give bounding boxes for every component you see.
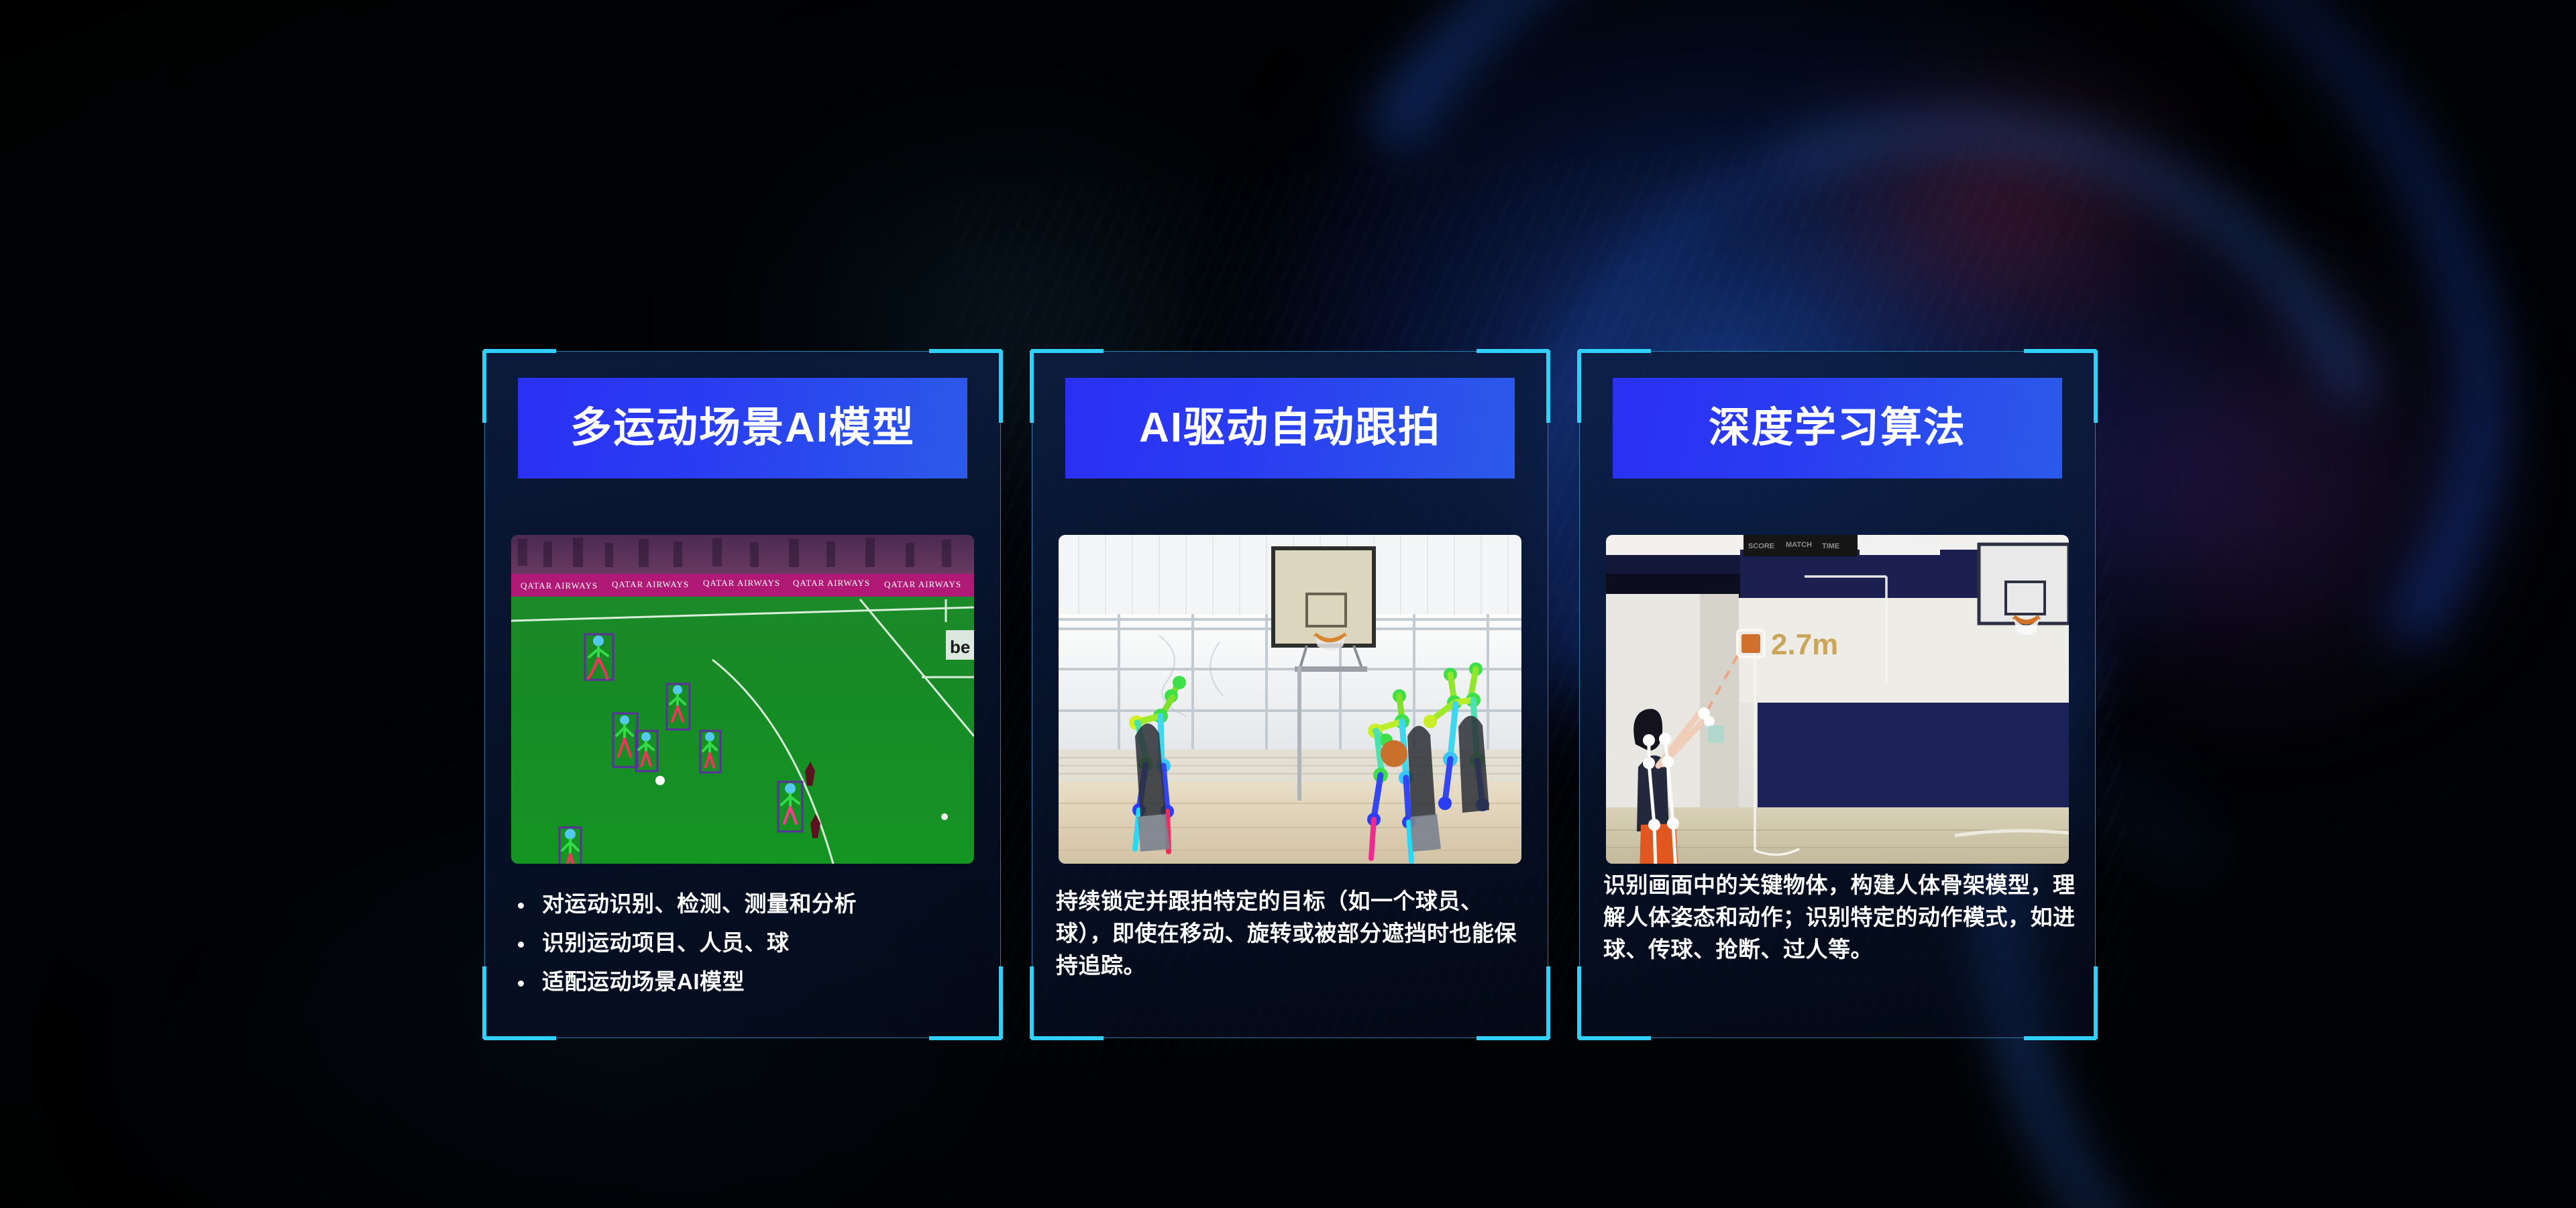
- card-title: 多运动场景AI模型: [570, 407, 915, 449]
- corner-bracket-bottom-right-v: [1546, 966, 1550, 1039]
- svg-text:TIME: TIME: [1822, 542, 1839, 550]
- svg-text:be: be: [950, 637, 970, 657]
- corner-bracket-top-left-v: [1030, 350, 1034, 423]
- corner-bracket-top-right-v: [999, 350, 1003, 423]
- shot-height-measurement-illustration: SCOREMATCHTIME: [1606, 535, 2069, 864]
- feature-description: 识别画面中的关键物体，构建人体骨架模型，理解人体姿态和动作；识别特定的动作模式，…: [1603, 869, 2081, 966]
- basketball-pose-illustration: [1059, 535, 1521, 864]
- card-body-text: 对运动识别、检测、测量和分析 识别运动项目、人员、球 适配运动场景AI模型: [513, 888, 981, 1005]
- card-title-banner: 深度学习算法: [1613, 378, 2062, 479]
- feature-bullet-list: 对运动识别、检测、测量和分析 识别运动项目、人员、球 适配运动场景AI模型: [513, 888, 981, 998]
- list-item: 识别运动项目、人员、球: [513, 927, 981, 959]
- svg-text:QATAR AIRWAYS: QATAR AIRWAYS: [521, 581, 598, 591]
- corner-bracket-top-left-v: [1577, 350, 1581, 423]
- card-media-basketball-pose[interactable]: [1059, 535, 1521, 864]
- card-media-shot-measurement[interactable]: SCOREMATCHTIME: [1606, 535, 2069, 864]
- svg-text:QATAR AIRWAYS: QATAR AIRWAYS: [703, 578, 780, 588]
- card-title: AI驱动自动跟拍: [1139, 407, 1441, 449]
- svg-text:MATCH: MATCH: [1786, 541, 1812, 549]
- svg-text:SCORE: SCORE: [1748, 542, 1774, 550]
- card-body-text: 持续锁定并跟拍特定的目标（如一个球员、球），即使在移动、旋转或被部分遮挡时也能保…: [1056, 885, 1531, 982]
- list-item: 适配运动场景AI模型: [513, 966, 981, 998]
- corner-bracket-bottom-left-v: [1577, 966, 1581, 1039]
- feature-description: 持续锁定并跟拍特定的目标（如一个球员、球），即使在移动、旋转或被部分遮挡时也能保…: [1056, 885, 1531, 982]
- svg-text:2.7m: 2.7m: [1771, 628, 1838, 661]
- corner-bracket-top-right-v: [1546, 350, 1550, 423]
- corner-bracket-bottom-left-v: [1030, 966, 1034, 1039]
- card-title-banner: AI驱动自动跟拍: [1065, 378, 1515, 479]
- soccer-detection-illustration: QATAR AIRWAYS QATAR AIRWAYS QATAR AIRWAY…: [511, 535, 974, 864]
- feature-card-multi-sport-ai-model[interactable]: 多运动场景AI模型: [484, 351, 1001, 1038]
- feature-card-ai-auto-tracking[interactable]: AI驱动自动跟拍: [1032, 351, 1548, 1038]
- card-media-soccer-detection[interactable]: QATAR AIRWAYS QATAR AIRWAYS QATAR AIRWAY…: [511, 535, 974, 864]
- card-title-banner: 多运动场景AI模型: [518, 378, 967, 479]
- list-item: 对运动识别、检测、测量和分析: [513, 888, 981, 920]
- svg-text:QATAR AIRWAYS: QATAR AIRWAYS: [884, 579, 961, 589]
- card-body-text: 识别画面中的关键物体，构建人体骨架模型，理解人体姿态和动作；识别特定的动作模式，…: [1603, 869, 2081, 966]
- svg-text:QATAR AIRWAYS: QATAR AIRWAYS: [793, 578, 870, 588]
- svg-text:QATAR AIRWAYS: QATAR AIRWAYS: [612, 579, 689, 589]
- feature-card-deep-learning-algorithm[interactable]: 深度学习算法 SCOREMATCHTIME: [1579, 351, 2096, 1038]
- corner-bracket-bottom-right-v: [999, 966, 1003, 1039]
- feature-card-row: 多运动场景AI模型: [484, 351, 2096, 1038]
- card-title: 深度学习算法: [1709, 407, 1966, 449]
